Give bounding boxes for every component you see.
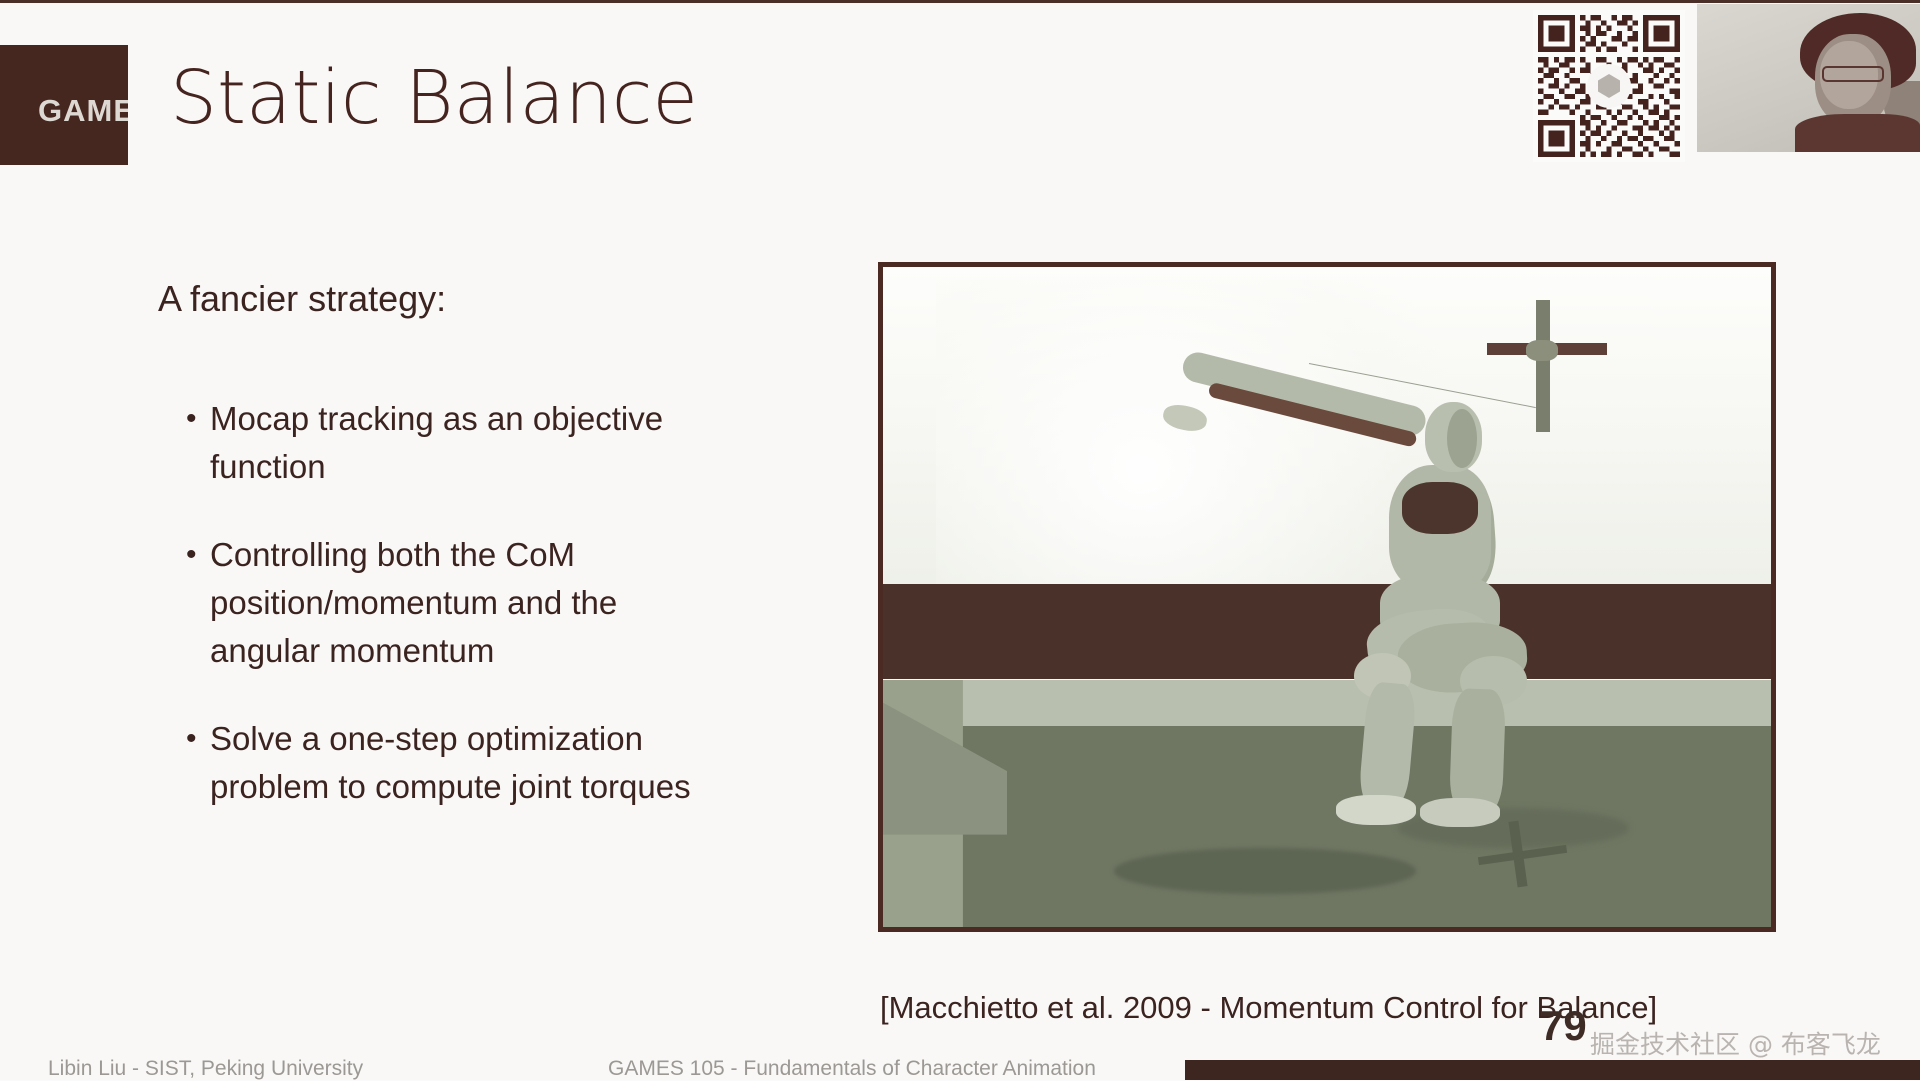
- figure-character-head-shade: [1447, 409, 1477, 468]
- figure-character-shin-left: [1357, 681, 1417, 810]
- page-number: 79: [1540, 1002, 1587, 1050]
- figure-character-hand: [1161, 401, 1209, 433]
- list-item: • Controlling both the CoM position/mome…: [158, 531, 718, 675]
- webcam-glasses-icon: [1822, 66, 1884, 82]
- list-item-text: Controlling both the CoM position/moment…: [210, 531, 718, 675]
- presenter-webcam-video[interactable]: [1697, 4, 1920, 152]
- list-item-text: Mocap tracking as an objective function: [210, 395, 718, 491]
- figure-character-foot-left: [1336, 795, 1416, 825]
- footer-left-text: Libin Liu - SIST, Peking University: [48, 1057, 363, 1081]
- figure-animation-screenshot: [878, 262, 1776, 932]
- figure-character: [883, 267, 1771, 927]
- games-logo-box: GAMES: [0, 45, 128, 165]
- games-logo-label: GAMES: [38, 93, 128, 129]
- bullet-marker-icon: •: [158, 395, 210, 443]
- figure-character-shin-right: [1449, 688, 1507, 815]
- lead-text: A fancier strategy:: [158, 278, 446, 320]
- qr-center-logo-icon: [1587, 64, 1631, 108]
- bullet-marker-icon: •: [158, 531, 210, 579]
- bullet-marker-icon: •: [158, 715, 210, 763]
- webcam-body: [1795, 114, 1920, 152]
- slide-canvas: GAMES Static Balance A fancier strategy:…: [0, 0, 1920, 1080]
- list-item-text: Solve a one-step optimization problem to…: [210, 715, 718, 811]
- qr-code-icon[interactable]: [1533, 10, 1685, 162]
- figure-character-torso-shade: [1402, 482, 1477, 535]
- footer-center-text: GAMES 105 - Fundamentals of Character An…: [608, 1057, 1096, 1081]
- list-item: • Solve a one-step optimization problem …: [158, 715, 718, 811]
- page-title: Static Balance: [170, 60, 698, 138]
- bullet-list: • Mocap tracking as an objective functio…: [158, 395, 718, 851]
- figure-character-shadow: [1114, 848, 1416, 894]
- watermark-text: 掘金技术社区 @ 布客飞龙: [1590, 1025, 1881, 1061]
- footer-accent-bar: [1185, 1060, 1920, 1080]
- list-item: • Mocap tracking as an objective functio…: [158, 395, 718, 491]
- figure-character-foot-right: [1420, 798, 1500, 827]
- top-rule: [0, 0, 1920, 3]
